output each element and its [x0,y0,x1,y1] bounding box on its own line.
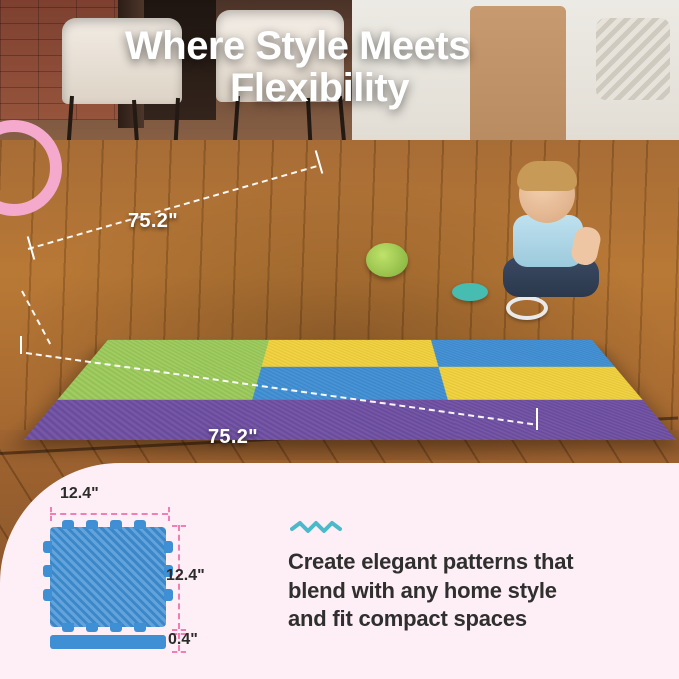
mat-tile [253,367,448,400]
headline: Where Style Meets Flexibility [125,25,625,109]
tile-interlock-nub [43,541,52,553]
mat-tile [85,340,269,367]
headline-line-1: Where Style Meets [125,24,470,68]
dimension-tick [536,408,538,430]
diagram-width-tick-left [50,507,52,521]
tile-thickness-bar [50,635,166,649]
tile-interlock-nub [62,520,74,529]
headline-line-2: Flexibility [125,67,625,109]
toy-teal-disc [452,283,488,301]
tile-interlock-nub [62,623,74,632]
tile-interlock-nub [134,520,146,529]
diagram-tile [50,527,166,627]
mat-tile [241,400,459,440]
mat-tile [431,340,615,367]
tile-interlock-nub [110,623,122,632]
mat-depth-label: 75.2" [208,426,258,449]
toy-ball [366,243,408,277]
child-hair [517,161,577,191]
product-lifestyle-image: 75.2" 75.2" Where Style Meets Flexibilit… [0,0,679,679]
body-copy-line-1: Create elegant patterns that [288,548,668,577]
mat-tile [438,367,642,400]
diagram-height-tick-top [172,525,186,527]
body-copy-line-3: and fit compact spaces [288,605,668,634]
squiggle-decor [290,520,350,534]
diagram-thickness-tick-bottom [172,651,186,653]
tile-thickness-label: 0.4" [168,631,198,649]
body-copy-line-2: blend with any home style [288,577,668,606]
tile-depth-label: 12.4" [166,567,205,585]
tile-interlock-nub [86,623,98,632]
mat-tile [262,340,439,367]
diagram-width-tick-right [168,507,170,521]
diagram-width-line [50,513,168,515]
tile-interlock-nub [164,589,173,601]
tile-width-label: 12.4" [60,485,99,503]
body-copy: Create elegant patterns that blend with … [288,548,668,634]
tile-interlock-nub [86,520,98,529]
dimension-tick [20,336,22,354]
tile-interlock-nub [164,541,173,553]
tile-interlock-nub [134,623,146,632]
tile-interlock-nub [43,565,52,577]
mat-tile [447,400,676,440]
foam-mat [24,340,677,440]
tile-interlock-nub [43,589,52,601]
tile-interlock-nub [110,520,122,529]
mat-width-label: 75.2" [128,210,178,233]
tile-diagram: 12.4" 12.4" 0.4" [28,505,198,665]
child [497,165,607,310]
